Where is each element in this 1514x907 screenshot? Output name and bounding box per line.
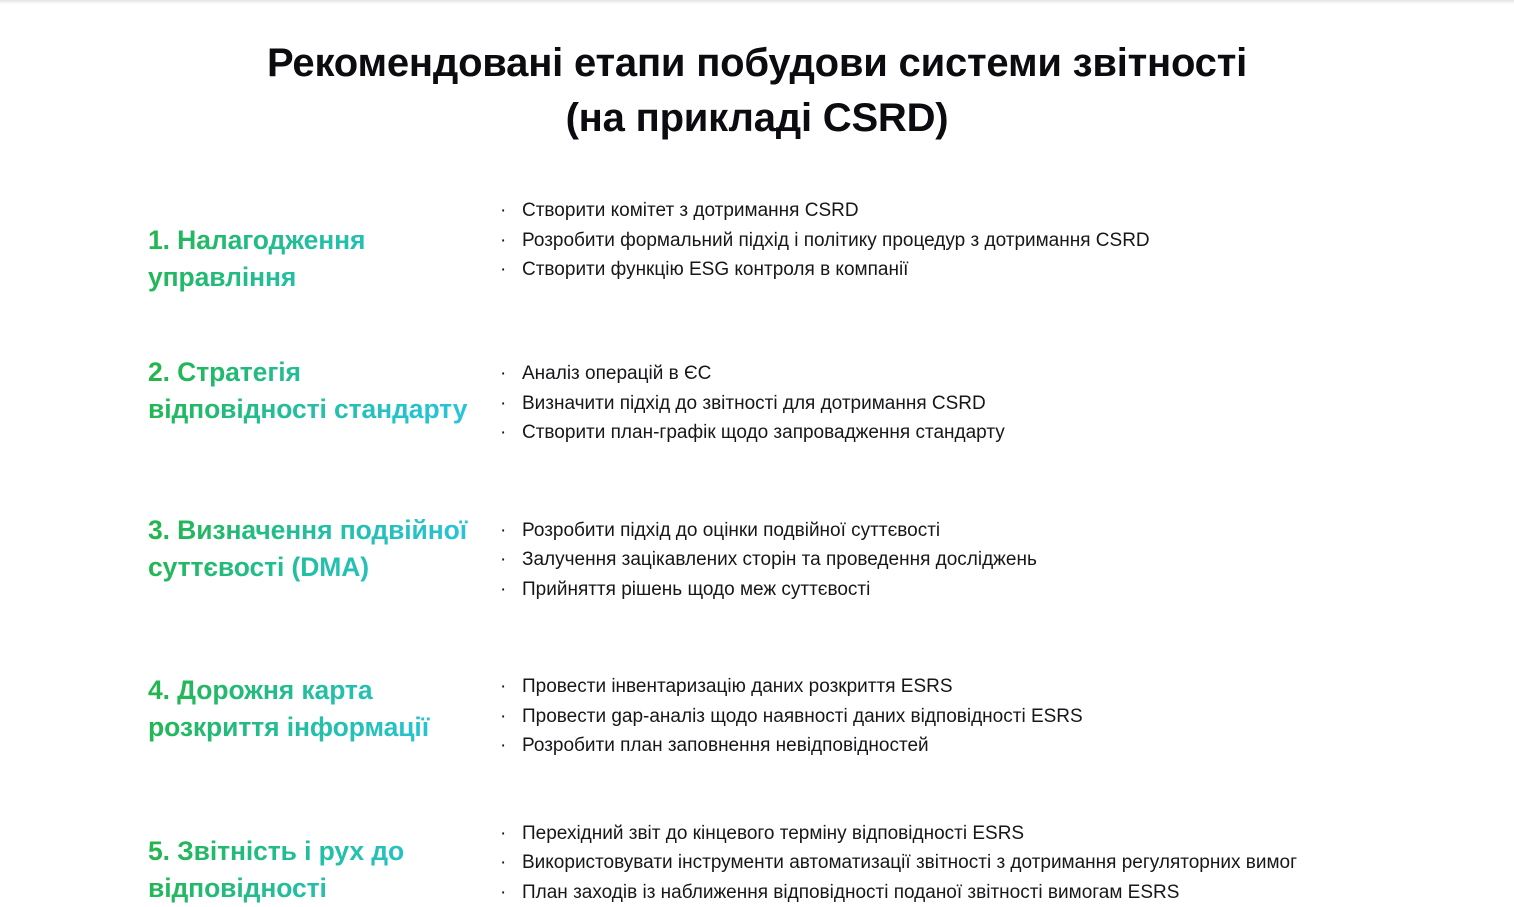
- step-item: 1. Налагодження управління · Створити ко…: [0, 196, 1514, 296]
- bullet-dot-icon: ·: [500, 516, 522, 546]
- slide-canvas: Рекомендовані етапи побудови системи зві…: [0, 0, 1514, 846]
- bullet-item: · Провести gap-аналіз щодо наявності дан…: [500, 702, 1400, 732]
- bullet-item: · Аналіз операцій в ЄС: [500, 359, 1400, 389]
- bullet-text: Створити комітет з дотримання CSRD: [522, 196, 1400, 226]
- bullet-text: Провести інвентаризацію даних розкриття …: [522, 672, 1400, 702]
- bullet-text: Аналіз операцій в ЄС: [522, 359, 1400, 389]
- bullet-item: · Перехідний звіт до кінцевого терміну в…: [500, 819, 1400, 849]
- bullet-dot-icon: ·: [500, 359, 522, 389]
- step-bullets-5: · Перехідний звіт до кінцевого терміну в…: [500, 819, 1400, 907]
- bullet-text: Прийняття рішень щодо меж суттєвості: [522, 575, 1400, 605]
- step-bullets-3: · Розробити підхід до оцінки подвійної с…: [500, 512, 1400, 605]
- bullet-dot-icon: ·: [500, 545, 522, 575]
- step-heading-2: 2. Стратегія відповідності стандарту: [0, 354, 500, 428]
- bullet-text: Розробити план заповнення невідповідност…: [522, 731, 1400, 761]
- bullet-item: · Створити функцію ESG контроля в компан…: [500, 255, 1400, 285]
- bullet-item: · Провести інвентаризацію даних розкритт…: [500, 672, 1400, 702]
- bullet-item: · Розробити підхід до оцінки подвійної с…: [500, 516, 1400, 546]
- step-heading-1: 1. Налагодження управління: [0, 196, 500, 296]
- bullet-item: · План заходів із наближення відповіднос…: [500, 878, 1400, 907]
- bullet-item: · Створити план-графік щодо запровадженн…: [500, 418, 1400, 448]
- bullet-item: · Розробити план заповнення невідповідно…: [500, 731, 1400, 761]
- bullet-item: · Визначити підхід до звітності для дотр…: [500, 389, 1400, 419]
- page-title: Рекомендовані етапи побудови системи зві…: [0, 36, 1514, 146]
- bullet-text: Використовувати інструменти автоматизаці…: [522, 848, 1400, 878]
- step-item: 2. Стратегія відповідності стандарту · А…: [0, 354, 1514, 448]
- bullet-dot-icon: ·: [500, 848, 522, 878]
- bullet-text: Залучення зацікавлених сторін та проведе…: [522, 545, 1400, 575]
- bullet-text: Створити функцію ESG контроля в компанії: [522, 255, 1400, 285]
- step-bullets-1: · Створити комітет з дотримання CSRD · Р…: [500, 196, 1400, 285]
- bullet-text: Провести gap-аналіз щодо наявності даних…: [522, 702, 1400, 732]
- bullet-dot-icon: ·: [500, 731, 522, 761]
- step-item: 5. Звітність і рух до відповідності · Пе…: [0, 819, 1514, 907]
- bullet-dot-icon: ·: [500, 878, 522, 907]
- bullet-dot-icon: ·: [500, 226, 522, 256]
- bullet-text: Розробити підхід до оцінки подвійної сут…: [522, 516, 1400, 546]
- bullet-dot-icon: ·: [500, 196, 522, 226]
- step-heading-4: 4. Дорожня карта розкриття інформації: [0, 672, 500, 746]
- step-bullets-4: · Провести інвентаризацію даних розкритт…: [500, 672, 1400, 761]
- bullet-item: · Використовувати інструменти автоматиза…: [500, 848, 1400, 878]
- step-item: 3. Визначення подвійної суттєвості (DMA)…: [0, 512, 1514, 605]
- bullet-text: Розробити формальний підхід і політику п…: [522, 226, 1400, 256]
- bullet-dot-icon: ·: [500, 672, 522, 702]
- bullet-text: Визначити підхід до звітності для дотрим…: [522, 389, 1400, 419]
- bullet-item: · Розробити формальний підхід і політику…: [500, 226, 1400, 256]
- bullet-item: · Прийняття рішень щодо меж суттєвості: [500, 575, 1400, 605]
- step-bullets-2: · Аналіз операцій в ЄС · Визначити підхі…: [500, 354, 1400, 448]
- bullet-text: Створити план-графік щодо запровадження …: [522, 418, 1400, 448]
- steps-list: 1. Налагодження управління · Створити ко…: [0, 196, 1514, 907]
- bullet-dot-icon: ·: [500, 702, 522, 732]
- step-heading-3: 3. Визначення подвійної суттєвості (DMA): [0, 512, 500, 586]
- bullet-dot-icon: ·: [500, 575, 522, 605]
- bullet-text: Перехідний звіт до кінцевого терміну від…: [522, 819, 1400, 849]
- bullet-text: План заходів із наближення відповідності…: [522, 878, 1400, 907]
- bullet-item: · Створити комітет з дотримання CSRD: [500, 196, 1400, 226]
- page-title-line-2: (на прикладі CSRD): [0, 91, 1514, 146]
- bullet-dot-icon: ·: [500, 389, 522, 419]
- page-title-line-1: Рекомендовані етапи побудови системи зві…: [0, 36, 1514, 91]
- step-heading-5: 5. Звітність і рух до відповідності: [0, 819, 500, 907]
- bullet-dot-icon: ·: [500, 819, 522, 849]
- bullet-dot-icon: ·: [500, 255, 522, 285]
- bullet-item: · Залучення зацікавлених сторін та прове…: [500, 545, 1400, 575]
- step-item: 4. Дорожня карта розкриття інформації · …: [0, 672, 1514, 761]
- bullet-dot-icon: ·: [500, 418, 522, 448]
